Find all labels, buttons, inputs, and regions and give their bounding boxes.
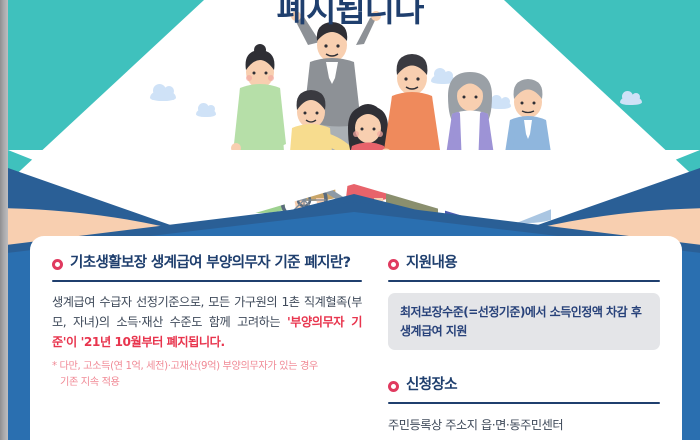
place-detail-text: 주민등록상 주소지 읍·면·동주민센터 [388, 415, 660, 433]
column-definition: 기초생활보장 생계급여 부양의무자 기준 폐지란? 생계급여 수급자 선정기준으… [52, 254, 362, 440]
place-rule [388, 402, 660, 404]
support-heading-label: 지원내용 [406, 254, 457, 273]
support-detail-box: 최저보장수준(=선정기준)에서 소득인정액 차감 후 생계급여 지원 [388, 293, 660, 350]
info-card: 기초생활보장 생계급여 부양의무자 기준 폐지란? 생계급여 수급자 선정기준으… [30, 236, 682, 440]
bullet-ring-icon [388, 259, 399, 270]
definition-note-line1: * 다만, 고소득(연 1억, 세전)·고재산(9억) 부양의무자가 있는 경우 [52, 361, 318, 372]
definition-note-line2: 기존 지속 적용 [52, 375, 362, 390]
left-edge-strip [0, 0, 8, 440]
place-heading: 신청장소 [388, 376, 660, 395]
definition-note: * 다만, 고소득(연 1억, 세전)·고재산(9억) 부양의무자가 있는 경우… [52, 359, 362, 390]
definition-heading-label: 기초생활보장 생계급여 부양의무자 기준 폐지란? [70, 254, 350, 273]
support-rule [388, 280, 660, 282]
bullet-ring-icon [388, 381, 399, 392]
place-heading-label: 신청장소 [406, 376, 457, 395]
definition-rule [52, 280, 362, 282]
section-spacer [388, 350, 660, 376]
bullet-ring-icon [52, 259, 63, 270]
column-support: 지원내용 최저보장수준(=선정기준)에서 소득인정액 차감 후 생계급여 지원 … [388, 254, 660, 440]
definition-body: 생계급여 수급자 선정기준으로, 모든 가구원의 1촌 직계혈족(부모, 자녀)… [52, 293, 362, 352]
definition-heading: 기초생활보장 생계급여 부양의무자 기준 폐지란? [52, 254, 362, 273]
page-title: 폐지됩니다 [0, 0, 700, 31]
poster-root: 폐지됩니다 기초생활보장 생계급여 부양의무자 기준 폐지란? 생계급여 수급자… [0, 0, 700, 440]
support-heading: 지원내용 [388, 254, 660, 273]
